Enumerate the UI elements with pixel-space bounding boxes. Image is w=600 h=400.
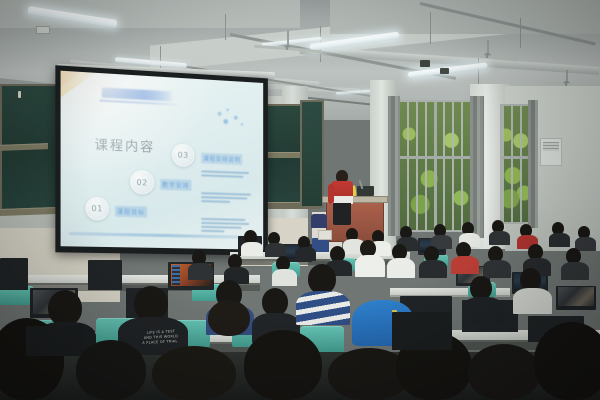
laptop-lid-foreground (26, 326, 82, 356)
projection-screen: 课程内容 01 课程目标 02 教学安排 03 课程安排说明 (55, 65, 268, 255)
student-far (434, 224, 452, 248)
projector-mount (36, 26, 50, 34)
student-closest (244, 330, 322, 400)
student-closest-right (534, 322, 600, 400)
laptop-screen-content (558, 287, 594, 306)
student-far (268, 232, 286, 256)
student-mid (276, 256, 298, 284)
laptop-screen (558, 287, 594, 306)
student-mid (392, 244, 416, 276)
wall-control-box (540, 138, 562, 166)
ceiling-fan-rod (487, 40, 489, 54)
student-mid (456, 242, 480, 272)
window-mullion (434, 102, 437, 230)
student-far (578, 226, 596, 250)
ceiling-panel-rear (330, 0, 600, 34)
chalk-piece (18, 91, 21, 98)
wall-box-grill (543, 142, 559, 151)
light-hanger (430, 12, 431, 44)
presentation-slide: 课程内容 01 课程目标 02 教学安排 03 课程安排说明 (61, 71, 264, 250)
laptop-lid-foreground (392, 312, 452, 350)
window-curtain (388, 96, 400, 236)
speaker-box (440, 68, 449, 74)
laptop-lid (88, 260, 122, 290)
ceiling-fan-rod (287, 30, 289, 46)
blackboard-right-panel (300, 100, 324, 208)
podium-laptop (357, 186, 374, 196)
student-mid (488, 246, 512, 276)
student-striped-shirt (308, 264, 344, 322)
student-closest (468, 344, 540, 400)
laptop-open (556, 286, 596, 310)
office-chair (311, 214, 327, 228)
light-hanger (225, 14, 226, 40)
student-mid (566, 248, 590, 278)
student-mid (192, 250, 214, 278)
student-far (244, 230, 262, 254)
student-mid (360, 240, 384, 274)
student-closest (152, 346, 236, 400)
student-foreground-tshirt: LIFE IS A TEST AND THIS WORLD A PLACE OF… (134, 286, 182, 352)
lecture-hall-photo: 课程内容 01 课程目标 02 教学安排 03 课程安排说明 (0, 0, 600, 400)
student-mid (424, 246, 448, 276)
instructor-arm (328, 184, 334, 204)
paper-sign (318, 230, 332, 240)
student-far (298, 236, 316, 260)
window-curtain (470, 96, 484, 238)
projector-glow (61, 71, 225, 199)
slide-item-number-01: 01 (85, 197, 109, 221)
barred-window-left (396, 100, 474, 232)
student-far (552, 222, 570, 246)
laptop-sidebar (172, 265, 180, 285)
instructor-trousers (333, 203, 351, 225)
student-closest (76, 340, 146, 400)
barred-window-right (500, 104, 530, 224)
student-closest (208, 300, 250, 336)
speaker-box (420, 60, 430, 67)
student-row3 (470, 276, 504, 322)
student-far (492, 220, 510, 244)
window-security-bars (502, 106, 528, 222)
window-mullion (502, 156, 528, 159)
laptop-lid (0, 258, 28, 290)
light-hanger (520, 18, 521, 48)
student-mid (228, 254, 250, 282)
window-curtain (528, 100, 538, 228)
slide-item-label-01: 课程目标 (115, 206, 147, 218)
student-row3 (520, 268, 552, 312)
